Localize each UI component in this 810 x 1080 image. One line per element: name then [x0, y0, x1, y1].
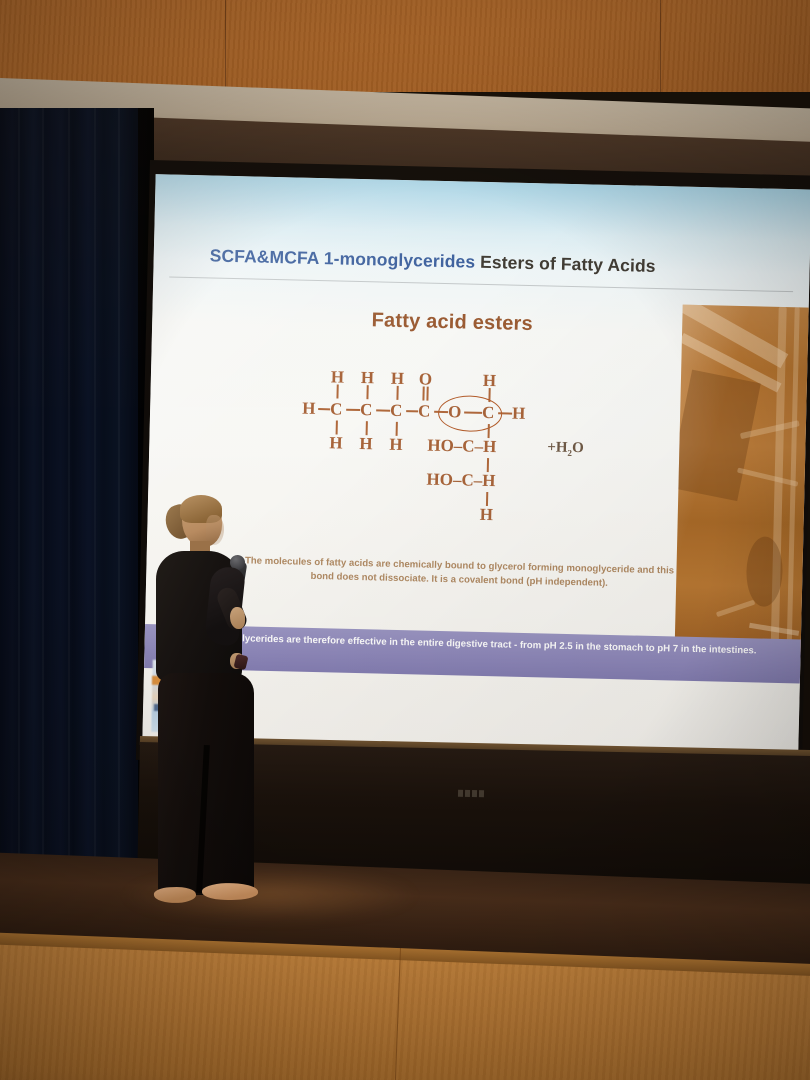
atom-h-bottom-1: H [329, 434, 343, 451]
chain-atom-5: C [418, 402, 431, 419]
atom-o-top: O [419, 370, 433, 387]
chain-atom-2: C [330, 400, 343, 417]
title-divider [169, 276, 793, 292]
atom-h-top-1: H [331, 368, 345, 385]
ceiling-seam [225, 0, 226, 92]
atom-h-bottom-3: H [389, 436, 403, 453]
slide-title-highlight: SCFA&MCFA 1-monoglycerides [210, 245, 476, 271]
shoe-front [202, 882, 259, 901]
atom-h-bottom-2: H [359, 435, 373, 452]
stage-curtain [0, 108, 152, 898]
water-suffix: O [572, 440, 584, 456]
wall-vent-icon [458, 790, 484, 798]
byproduct-water-label: +H2O [547, 439, 584, 458]
slide-photo-industrial [674, 305, 810, 658]
molecule-diagram: H H H O H H C C C C [297, 368, 621, 535]
slide-title: SCFA&MCFA 1-monoglycerides Esters of Fat… [210, 245, 770, 279]
ceiling-wood-panel [0, 0, 810, 92]
ester-bond-highlight-circle [438, 395, 503, 432]
presentation-clicker-icon [233, 654, 248, 670]
ceiling-seam [660, 0, 661, 92]
chain-atom-4: C [390, 402, 403, 419]
presentation-photo-scene: SCFA&MCFA 1-monoglycerides Esters of Fat… [0, 0, 810, 1080]
hand-holding-microphone [230, 607, 245, 629]
chain-atom-8: H [512, 405, 526, 422]
atom-h-top-3: H [391, 370, 405, 387]
atom-h-top-5: H [483, 372, 497, 389]
slide-body-paragraph: The molecules of fatty acids are chemica… [234, 554, 685, 592]
glycerol-tail-h: H [480, 506, 494, 523]
shoe-back [154, 886, 197, 904]
atom-h-top-2: H [361, 369, 375, 386]
slide-heading: Fatty acid esters [302, 308, 602, 338]
glycerol-row-1: HO–C–H [427, 437, 496, 456]
slide-title-rest: Esters of Fatty Acids [475, 252, 656, 276]
presenter-figure [150, 495, 290, 915]
chain-atom-3: C [360, 401, 373, 418]
glycerol-row-2: HO–C–H [426, 471, 495, 490]
chain-atom-1: H [302, 400, 316, 417]
water-prefix: +H [547, 439, 568, 455]
